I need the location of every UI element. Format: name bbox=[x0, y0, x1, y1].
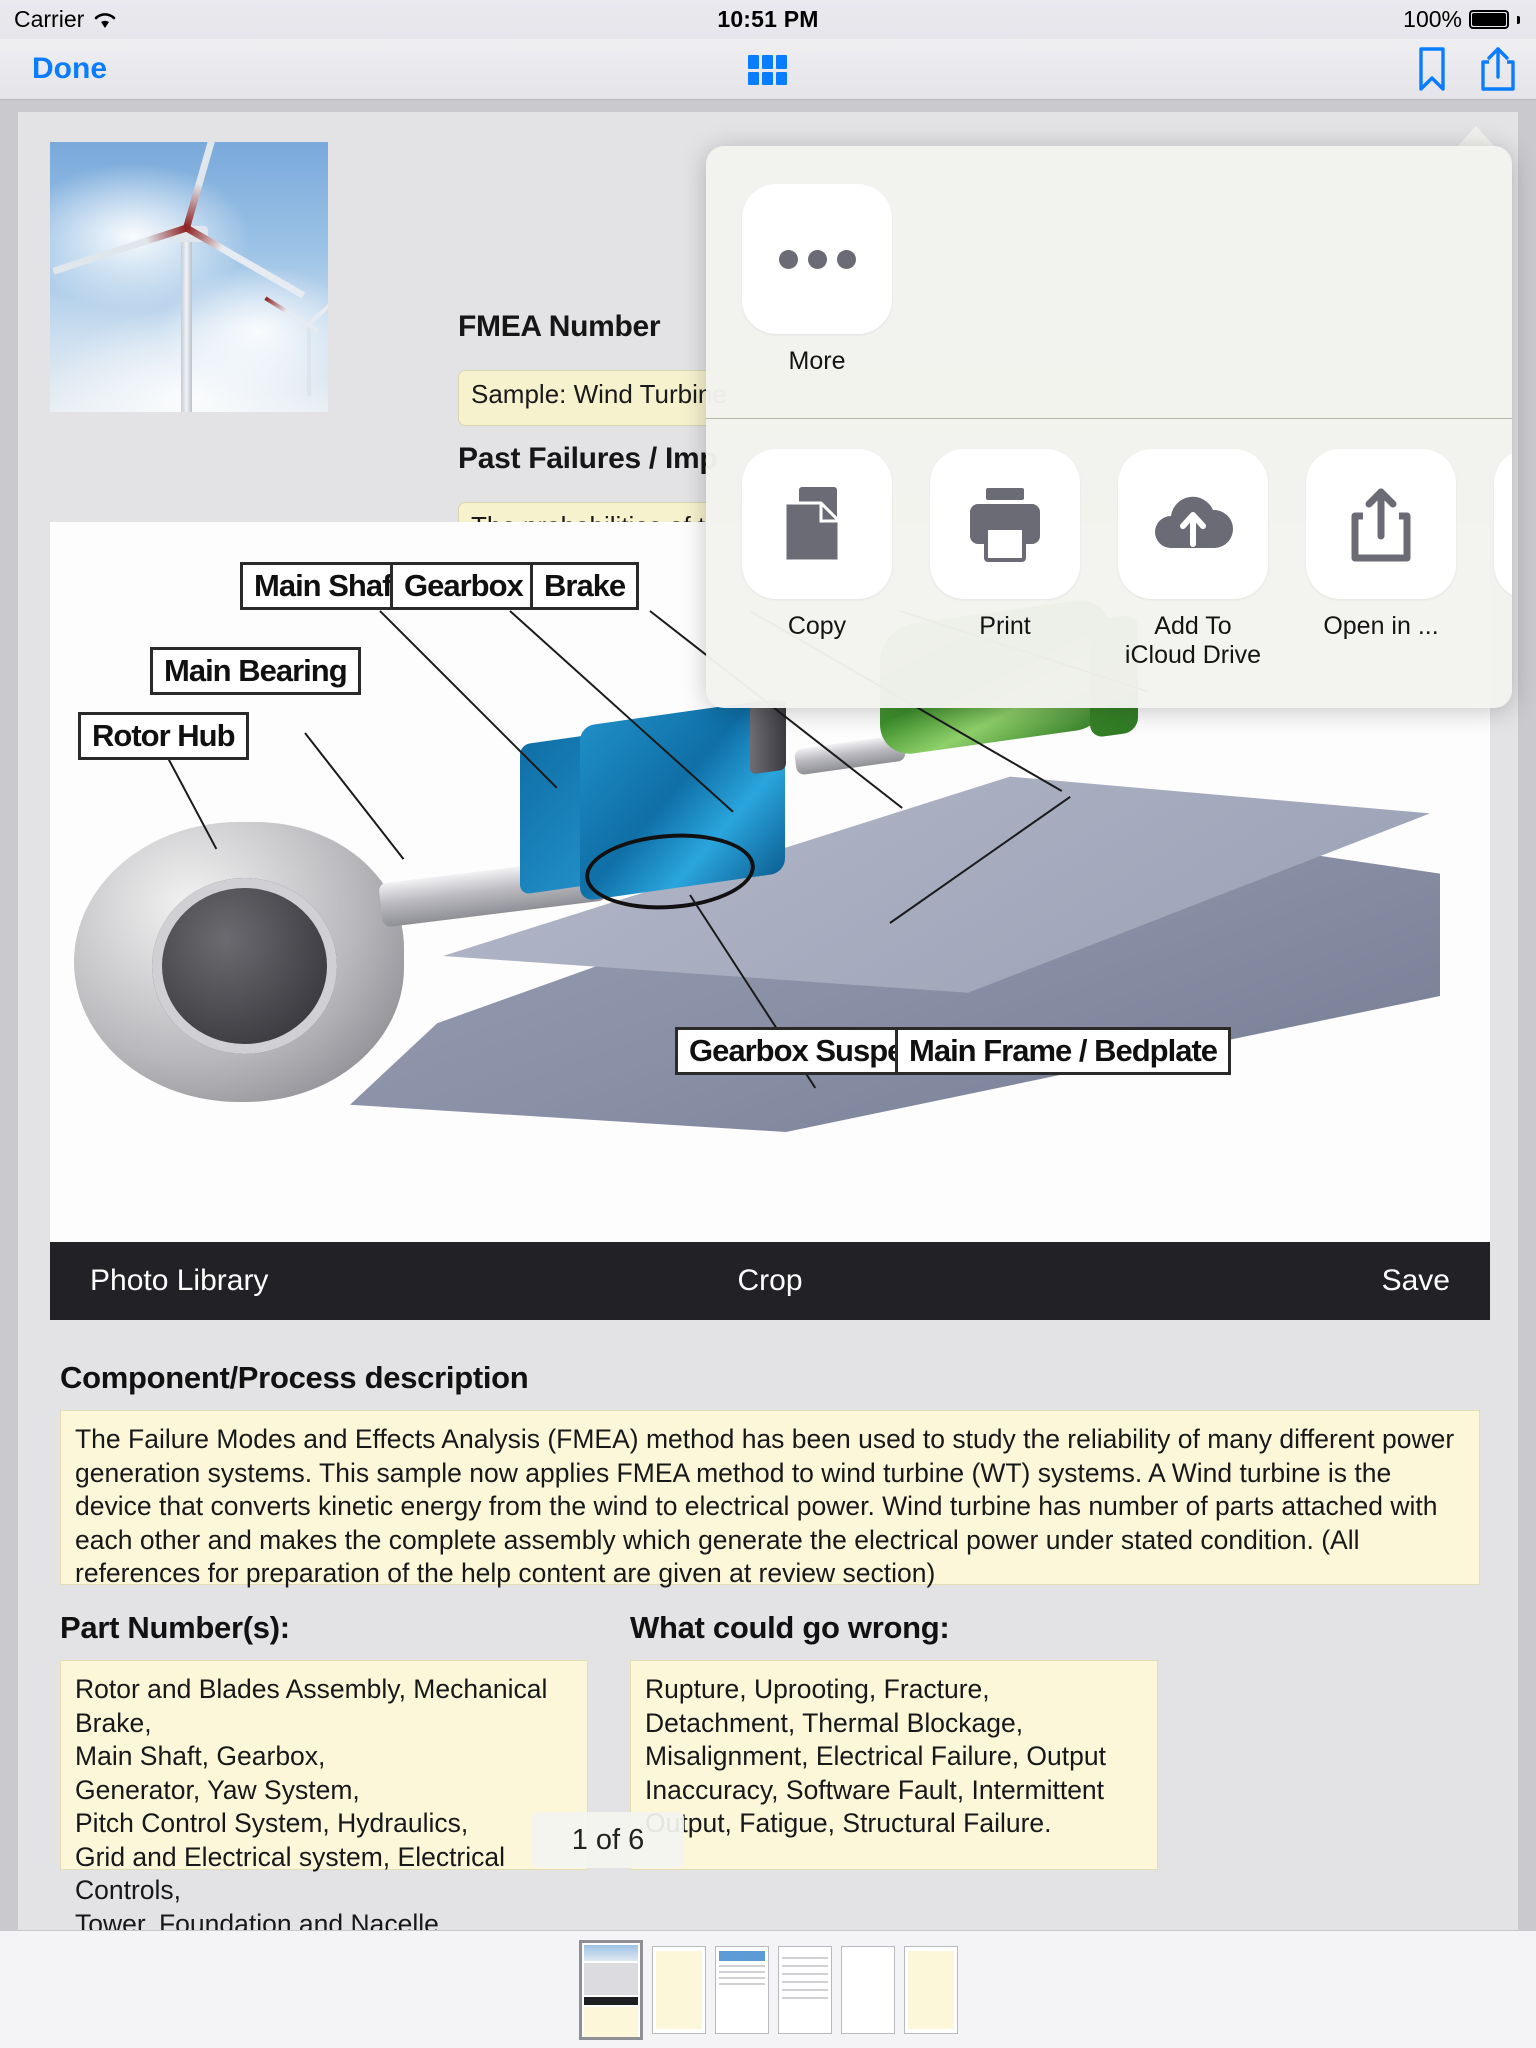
icloud-upload-icon bbox=[1118, 449, 1268, 599]
part-numbers-title: Part Number(s): bbox=[60, 1610, 290, 1646]
share-action-copy[interactable]: Copy bbox=[742, 449, 892, 641]
share-action-add-to-icloud-drive[interactable]: Add To iCloud Drive bbox=[1118, 449, 1268, 670]
page-indicator: 1 of 6 bbox=[532, 1812, 684, 1868]
nav-right-actions bbox=[1414, 45, 1518, 93]
thumbnail-page-3[interactable] bbox=[715, 1946, 769, 2034]
share-action-add-to-icloud-drive-label: Add To iCloud Drive bbox=[1118, 612, 1268, 670]
copy-icon bbox=[742, 449, 892, 599]
part-numbers-field[interactable]: Rotor and Blades Assembly, Mechanical Br… bbox=[60, 1660, 588, 1870]
wind-turbine-photo bbox=[50, 142, 328, 412]
clock: 10:51 PM bbox=[0, 6, 1536, 33]
thumbnail-page-1[interactable] bbox=[579, 1940, 643, 2040]
what-could-go-wrong-title: What could go wrong: bbox=[630, 1610, 949, 1646]
save-button[interactable]: Save bbox=[1382, 1264, 1450, 1298]
status-bar-right: 100% bbox=[1403, 6, 1520, 33]
diagram-label-main-bearing: Main Bearing bbox=[150, 647, 361, 695]
thumbnail-page-2[interactable] bbox=[652, 1946, 706, 2034]
share-action-next-partial[interactable] bbox=[1494, 449, 1512, 599]
bookmark-icon[interactable] bbox=[1414, 46, 1450, 92]
brake-disc-graphic bbox=[750, 699, 786, 774]
share-sheet-actions-row: Copy Print bbox=[706, 419, 1512, 708]
share-action-print[interactable]: Print bbox=[930, 449, 1080, 641]
share-sheet-popover: More Copy bbox=[706, 146, 1512, 708]
share-action-copy-label: Copy bbox=[742, 612, 892, 641]
component-description-field[interactable]: The Failure Modes and Effects Analysis (… bbox=[60, 1410, 1480, 1585]
fmea-number-label: FMEA Number bbox=[458, 310, 660, 344]
component-description-title: Component/Process description bbox=[60, 1360, 528, 1396]
thumbnail-page-6[interactable] bbox=[904, 1946, 958, 2034]
diagram-label-rotor-hub: Rotor Hub bbox=[78, 712, 249, 760]
share-action-open-in-label: Open in ... bbox=[1306, 612, 1456, 641]
battery-percent-label: 100% bbox=[1403, 6, 1462, 33]
photo-library-button[interactable]: Photo Library bbox=[90, 1264, 268, 1298]
popover-arrow bbox=[1457, 126, 1495, 147]
printer-icon bbox=[930, 449, 1080, 599]
navigation-bar: Done bbox=[0, 39, 1536, 100]
rotor-hub-graphic bbox=[74, 822, 404, 1102]
diagram-label-main-shaft: Main Shaft bbox=[240, 562, 415, 610]
more-apps-icon bbox=[1494, 449, 1512, 599]
diagram-label-brake: Brake bbox=[530, 562, 639, 610]
open-in-icon bbox=[1306, 449, 1456, 599]
share-action-open-in[interactable]: Open in ... bbox=[1306, 449, 1456, 641]
photo-edit-toolbar: Photo Library Crop Save bbox=[50, 1242, 1490, 1320]
share-icon[interactable] bbox=[1478, 45, 1518, 93]
thumbnail-page-4[interactable] bbox=[778, 1946, 832, 2034]
ellipsis-icon bbox=[742, 184, 892, 334]
share-action-more[interactable]: More bbox=[742, 184, 892, 376]
share-action-print-label: Print bbox=[930, 612, 1080, 641]
battery-icon bbox=[1469, 10, 1509, 29]
share-action-more-label: More bbox=[742, 347, 892, 376]
crop-button[interactable]: Crop bbox=[737, 1264, 802, 1298]
grid-view-icon[interactable] bbox=[746, 54, 790, 86]
status-bar: Carrier 10:51 PM 100% bbox=[0, 0, 1536, 39]
diagram-label-gearbox: Gearbox bbox=[390, 562, 537, 610]
done-button[interactable]: Done bbox=[32, 52, 107, 86]
diagram-label-main-frame-bedplate: Main Frame / Bedplate bbox=[895, 1027, 1231, 1075]
what-could-go-wrong-field[interactable]: Rupture, Uprooting, Fracture, Detachment… bbox=[630, 1660, 1158, 1870]
leader-line bbox=[379, 610, 557, 788]
page-thumbnail-strip[interactable] bbox=[0, 1930, 1536, 2048]
battery-cap-icon bbox=[1517, 16, 1520, 24]
past-failures-label: Past Failures / Imp bbox=[458, 442, 717, 476]
thumbnail-page-5[interactable] bbox=[841, 1946, 895, 2034]
share-sheet-more-row: More bbox=[706, 146, 1512, 418]
